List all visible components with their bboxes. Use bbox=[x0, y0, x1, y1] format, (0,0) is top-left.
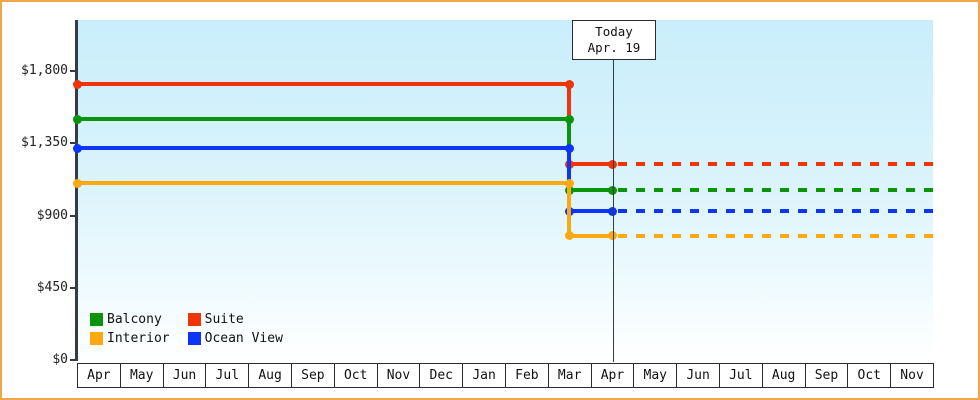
x-axis-month-6[interactable]: Oct bbox=[334, 363, 377, 388]
x-axis-month-19[interactable]: Nov bbox=[890, 363, 934, 388]
y-axis-tick-mark bbox=[70, 287, 77, 289]
series-marker-ocean-view bbox=[73, 144, 82, 153]
series-line-historical-suite bbox=[77, 82, 569, 86]
legend-item-suite[interactable]: Suite bbox=[188, 312, 283, 327]
legend-label: Interior bbox=[107, 331, 170, 346]
series-line-historical-balcony bbox=[77, 117, 569, 121]
x-axis-month-9[interactable]: Jan bbox=[462, 363, 505, 388]
x-axis-month-17[interactable]: Sep bbox=[805, 363, 848, 388]
series-line-current-suite bbox=[569, 162, 612, 166]
series-line-current-balcony bbox=[569, 188, 612, 192]
legend-label: Ocean View bbox=[205, 331, 283, 346]
y-axis-tick-label: $900 bbox=[2, 208, 68, 223]
legend-label: Balcony bbox=[107, 312, 162, 327]
series-line-current-interior bbox=[569, 234, 612, 238]
y-axis-tick-mark bbox=[70, 70, 77, 72]
legend-item-interior[interactable]: Interior bbox=[90, 331, 170, 346]
x-axis-month-labels: AprMayJunJulAugSepOctNovDecJanFebMarAprM… bbox=[77, 363, 934, 388]
series-marker-interior bbox=[565, 231, 574, 240]
legend-swatch-icon bbox=[188, 313, 201, 326]
today-marker-label: Today Apr. 19 bbox=[572, 20, 656, 60]
series-line-forecast-balcony bbox=[618, 188, 933, 192]
x-axis-month-10[interactable]: Feb bbox=[505, 363, 548, 388]
legend-label: Suite bbox=[205, 312, 244, 327]
x-axis-month-0[interactable]: Apr bbox=[77, 363, 120, 388]
series-marker-suite bbox=[73, 80, 82, 89]
chart-frame: $0$450$900$1,350$1,800 Today Apr. 19 Bal… bbox=[0, 0, 980, 400]
y-axis-tick-label: $0 bbox=[2, 352, 68, 367]
series-line-historical-interior bbox=[77, 181, 569, 185]
legend-item-ocean-view[interactable]: Ocean View bbox=[188, 331, 283, 346]
legend-item-balcony[interactable]: Balcony bbox=[90, 312, 170, 327]
y-axis-tick-label: $1,350 bbox=[2, 135, 68, 150]
x-axis-month-1[interactable]: May bbox=[120, 363, 163, 388]
series-marker-interior bbox=[608, 231, 617, 240]
today-label-line2: Apr. 19 bbox=[588, 40, 641, 56]
x-axis-month-5[interactable]: Sep bbox=[291, 363, 334, 388]
series-step-drop-interior bbox=[567, 181, 571, 237]
series-marker-balcony bbox=[565, 115, 574, 124]
today-marker-line bbox=[613, 60, 614, 362]
y-axis-tick-label: $1,800 bbox=[2, 63, 68, 78]
x-axis-month-13[interactable]: May bbox=[633, 363, 676, 388]
series-line-current-ocean-view bbox=[569, 209, 612, 213]
x-axis-month-3[interactable]: Jul bbox=[205, 363, 248, 388]
x-axis-month-8[interactable]: Dec bbox=[419, 363, 462, 388]
series-marker-suite bbox=[565, 80, 574, 89]
chart-legend: BalconySuiteInteriorOcean View bbox=[90, 312, 283, 346]
series-marker-interior bbox=[565, 179, 574, 188]
series-marker-ocean-view bbox=[608, 207, 617, 216]
legend-swatch-icon bbox=[90, 332, 103, 345]
series-marker-balcony bbox=[608, 186, 617, 195]
series-line-historical-ocean-view bbox=[77, 146, 569, 150]
today-label-line1: Today bbox=[595, 24, 633, 40]
x-axis-month-2[interactable]: Jun bbox=[163, 363, 206, 388]
y-axis-tick-label: $450 bbox=[2, 280, 68, 295]
x-axis-month-14[interactable]: Jun bbox=[676, 363, 719, 388]
series-marker-ocean-view bbox=[565, 144, 574, 153]
x-axis-month-18[interactable]: Oct bbox=[847, 363, 890, 388]
y-axis-tick-mark bbox=[70, 215, 77, 217]
x-axis-month-4[interactable]: Aug bbox=[248, 363, 291, 388]
legend-swatch-icon bbox=[188, 332, 201, 345]
x-axis-month-11[interactable]: Mar bbox=[548, 363, 591, 388]
series-line-forecast-interior bbox=[618, 234, 933, 238]
legend-swatch-icon bbox=[90, 313, 103, 326]
series-marker-suite bbox=[608, 160, 617, 169]
x-axis-month-16[interactable]: Aug bbox=[762, 363, 805, 388]
series-marker-balcony bbox=[73, 115, 82, 124]
series-marker-interior bbox=[73, 179, 82, 188]
x-axis-month-15[interactable]: Jul bbox=[719, 363, 762, 388]
series-line-forecast-suite bbox=[618, 162, 933, 166]
x-axis-month-7[interactable]: Nov bbox=[377, 363, 420, 388]
x-axis-month-12[interactable]: Apr bbox=[591, 363, 634, 388]
y-axis-tick-mark bbox=[70, 359, 77, 361]
series-line-forecast-ocean-view bbox=[618, 209, 933, 213]
